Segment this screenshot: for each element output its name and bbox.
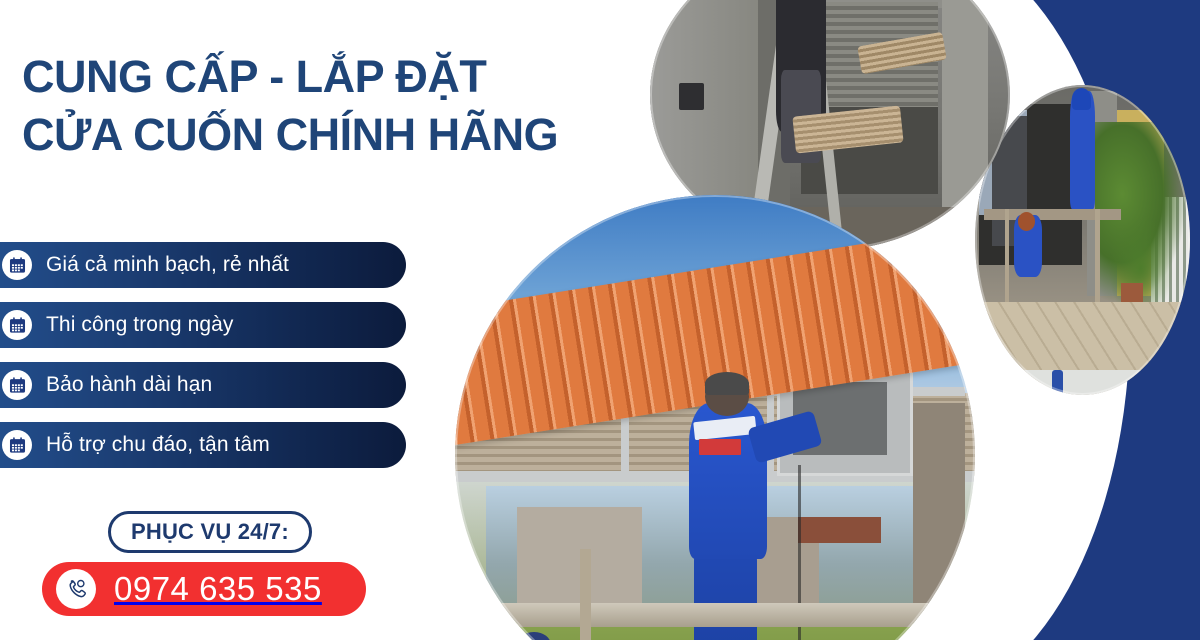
service-hours-label: PHỤC VỤ 24/7: [131,519,289,545]
phone-cta-button[interactable]: 0974 635 535 [42,562,366,616]
feature-item-warranty[interactable]: Bảo hành dài hạn [0,362,406,408]
phone-number-label: 0974 635 535 [114,570,322,608]
feature-label: Giá cả minh bạch, rẻ nhất [46,253,289,277]
left-content-column: CUNG CẤP - LẮP ĐẶT CỬA CUỐN CHÍNH HÃNG [0,0,640,640]
calendar-icon [2,250,32,280]
calendar-icon [2,370,32,400]
headline-line-2: CỬA CUỐN CHÍNH HÃNG [22,106,642,164]
page-title: CUNG CẤP - LẮP ĐẶT CỬA CUỐN CHÍNH HÃNG [22,48,642,163]
feature-label: Hỗ trợ chu đáo, tận tâm [46,433,270,457]
headline-line-1: CUNG CẤP - LẮP ĐẶT [22,48,642,106]
feature-label: Thi công trong ngày [46,313,234,337]
feature-label: Bảo hành dài hạn [46,373,212,397]
calendar-icon [2,310,32,340]
phone-icon [56,569,96,609]
service-hours-badge: PHỤC VỤ 24/7: [108,511,312,553]
feature-list: Giá cả minh bạch, rẻ nhất [0,242,406,482]
feature-item-price[interactable]: Giá cả minh bạch, rẻ nhất [0,242,406,288]
feature-item-same-day[interactable]: Thi công trong ngày [0,302,406,348]
promotional-banner: CUNG CẤP - LẮP ĐẶT CỬA CUỐN CHÍNH HÃNG [0,0,1200,640]
calendar-icon [2,430,32,460]
feature-item-support[interactable]: Hỗ trợ chu đáo, tận tâm [0,422,406,468]
